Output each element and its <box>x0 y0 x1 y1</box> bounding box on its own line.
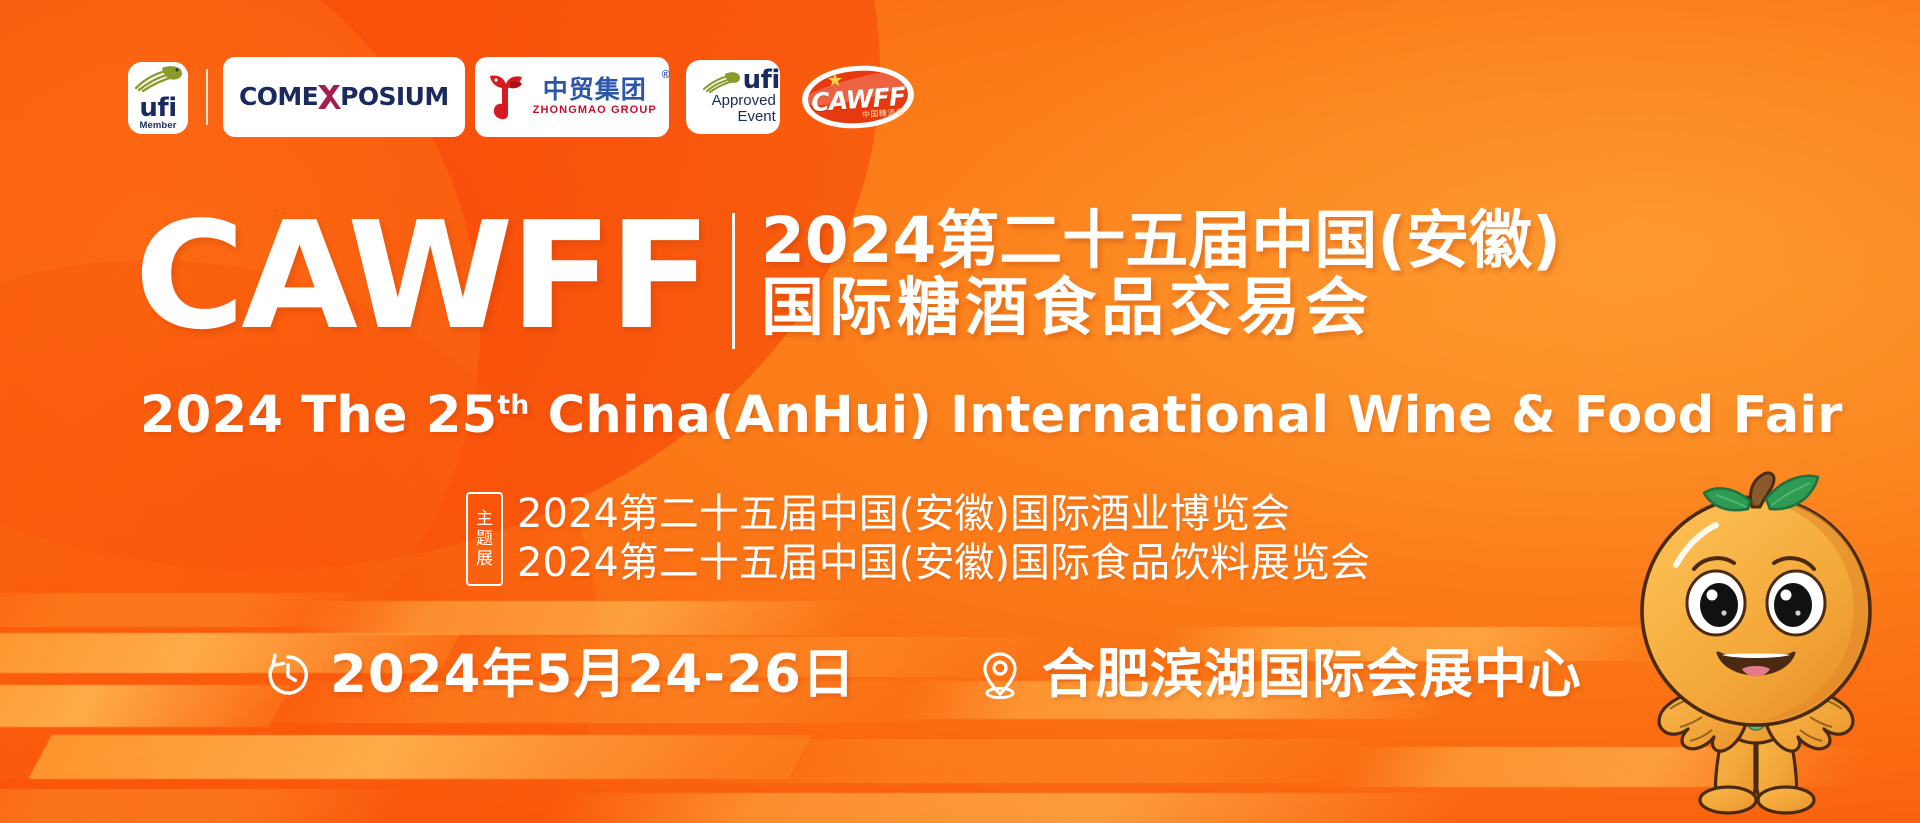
clock-icon <box>262 649 314 701</box>
event-banner: ufi Member COME POSIUM 中贸集团 ZHONG <box>0 0 1920 823</box>
ufi-member-sub: Member <box>139 120 176 131</box>
ufi-approved-word: ufi <box>743 69 780 92</box>
theme-line-2: 2024第二十五届中国(安徽)国际食品饮料展览会 <box>517 541 1370 587</box>
event-meta: 2024年5月24-26日 合肥滨湖国际会展中心 <box>262 648 1582 701</box>
zhongmao-cn: 中贸集团 <box>543 77 647 103</box>
wing-icon <box>701 69 741 93</box>
mascot-eye-left <box>1687 571 1745 635</box>
title-separator <box>732 213 735 349</box>
wing-icon <box>132 62 184 92</box>
comexposium-part2: POSIUM <box>340 82 448 111</box>
title-cn-line1: 2024第二十五届中国(安徽) <box>761 209 1561 274</box>
comexposium-logo[interactable]: COME POSIUM <box>226 60 462 134</box>
event-date-text: 2024年5月24-26日 <box>330 648 856 701</box>
english-subtitle: 2024 The 25th China(AnHui) International… <box>140 386 1843 445</box>
english-subtitle-ordinal: th <box>497 390 529 421</box>
comexposium-x-icon <box>316 83 342 111</box>
theme-badge-char-1: 主 <box>476 510 493 529</box>
title-cn-line2: 国际糖酒食品交易会 <box>761 276 1561 341</box>
location-pin-icon <box>974 649 1026 701</box>
theme-line-1: 2024第二十五届中国(安徽)国际酒业博览会 <box>517 492 1370 538</box>
zhongmao-registered-mark: ® <box>662 69 670 81</box>
ufi-member-logo[interactable]: ufi Member <box>128 60 188 134</box>
mascot-right-foot <box>1758 787 1814 813</box>
title-acronym: CAWFF <box>134 205 707 347</box>
zhongmao-en: ZHONGMAO GROUP <box>533 103 657 117</box>
ufi-approved-event-logo[interactable]: ufi Approved Event <box>682 60 780 134</box>
ufi-member-word: ufi <box>139 97 176 121</box>
english-subtitle-rest: China(AnHui) International Wine & Food F… <box>530 386 1843 445</box>
zhongmao-emblem-icon <box>484 72 528 122</box>
theme-badge-char-2: 题 <box>476 530 493 549</box>
zhongmao-group-logo[interactable]: 中贸集团 ZHONGMAO GROUP ® <box>478 60 666 134</box>
orange-fruit-mascot <box>1606 455 1906 823</box>
cawff-badge-logo[interactable]: CAWFF 中国糖酒会 <box>802 66 914 128</box>
star-icon <box>828 73 842 87</box>
english-subtitle-lead: 2024 The 25 <box>140 386 497 445</box>
mascot-left-foot <box>1700 787 1756 813</box>
ufi-approved-line2: Event <box>737 109 779 125</box>
event-date: 2024年5月24-26日 <box>262 648 856 701</box>
event-venue: 合肥滨湖国际会展中心 <box>974 648 1582 701</box>
theme-exhibitions: 主 题 展 2024第二十五届中国(安徽)国际酒业博览会 2024第二十五届中国… <box>466 492 1370 586</box>
mascot-eye-right <box>1767 571 1825 635</box>
ufi-approved-line1: Approved <box>712 93 780 109</box>
partner-logo-strip: ufi Member COME POSIUM 中贸集团 ZHONG <box>128 60 914 134</box>
cawff-badge-cn: 中国糖酒会 <box>861 107 904 121</box>
logo-divider <box>206 69 208 125</box>
event-venue-text: 合肥滨湖国际会展中心 <box>1042 648 1582 701</box>
main-title: CAWFF 2024第二十五届中国(安徽) 国际糖酒食品交易会 <box>140 205 1561 349</box>
theme-badge: 主 题 展 <box>466 492 503 586</box>
theme-badge-char-3: 展 <box>476 550 493 569</box>
comexposium-part1: COME <box>239 82 318 111</box>
